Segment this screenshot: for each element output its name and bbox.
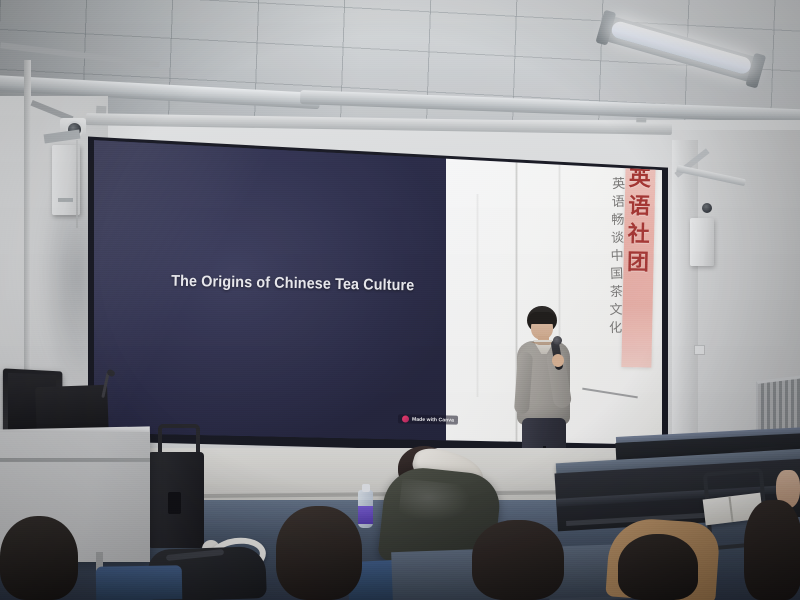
banner-char-1: 英 xyxy=(629,166,651,188)
lecture-hall-photo: 英 语 社 团 英 语 畅 谈 中 国 茶 文 化 The Origin xyxy=(0,0,800,600)
presenter-hand xyxy=(552,354,564,367)
microphone-head-icon xyxy=(553,336,562,345)
subtext-char-8: 文 xyxy=(610,303,623,316)
subtext-char-9: 化 xyxy=(609,321,622,334)
subtext-char-3: 畅 xyxy=(612,214,625,227)
hanging-cable xyxy=(76,140,78,228)
lectern-trim xyxy=(0,458,150,462)
left-wall-edge xyxy=(24,60,31,420)
student-left-edge xyxy=(0,516,78,600)
subtext-char-5: 中 xyxy=(611,250,624,263)
calligraphy-artwork: 英 语 社 团 英 语 畅 谈 中 国 茶 文 化 xyxy=(582,142,661,436)
banner-char-2: 语 xyxy=(628,194,650,216)
chair-back-left xyxy=(96,565,183,600)
water-bottle-cap xyxy=(362,484,370,492)
calligraphy-vertical-subtext: 英 语 畅 谈 中 国 茶 文 化 xyxy=(605,177,630,334)
equipment-case-panel xyxy=(168,492,181,514)
canva-watermark-label: Made with Canva xyxy=(412,416,454,423)
canva-logo-icon xyxy=(402,415,409,422)
subtext-char-6: 国 xyxy=(611,268,624,281)
student-right-edge xyxy=(744,500,800,600)
wall-speaker-right xyxy=(690,218,714,266)
banner-char-3: 社 xyxy=(628,222,650,244)
presenter-fringe xyxy=(528,312,556,324)
student-camel-coat-head xyxy=(618,534,698,600)
paper-crease-3 xyxy=(476,194,479,398)
banner-char-4: 团 xyxy=(627,250,649,272)
student-center xyxy=(472,520,564,600)
security-camera-right-icon xyxy=(702,203,712,213)
canva-watermark: Made with Canva xyxy=(398,414,458,424)
student-front-left xyxy=(276,506,362,600)
wall-outlet xyxy=(694,345,705,355)
speaker-label-left xyxy=(58,198,73,202)
subtext-char-4: 谈 xyxy=(611,232,624,245)
subtext-char-1: 英 xyxy=(612,178,625,191)
subtext-char-7: 茶 xyxy=(610,286,623,299)
parka-highlight xyxy=(398,478,472,525)
water-bottle-label xyxy=(358,506,373,524)
subtext-char-2: 语 xyxy=(612,196,625,209)
